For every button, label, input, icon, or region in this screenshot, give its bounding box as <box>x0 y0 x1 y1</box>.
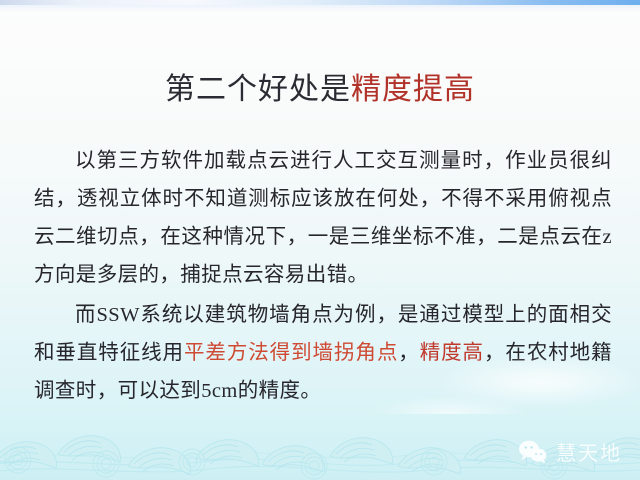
wechat-icon <box>518 439 548 465</box>
slide-canvas: 第二个好处是精度提高 以第三方软件加载点云进行人工交互测量时，作业员很纠结，透视… <box>0 0 640 480</box>
body-text-block: 以第三方软件加载点云进行人工交互测量时，作业员很纠结，透视立体时不知道测标应该放… <box>34 142 612 410</box>
text-run: ， <box>398 342 419 364</box>
watermark-text: 慧天地 <box>556 437 622 466</box>
title-highlight: 精度提高 <box>351 73 475 106</box>
watermark: 慧天地 <box>518 437 622 466</box>
paragraph-1: 以第三方软件加载点云进行人工交互测量时，作业员很纠结，透视立体时不知道测标应该放… <box>34 142 612 294</box>
title-lead: 第二个好处是 <box>165 73 351 106</box>
paragraph-2: 而SSW系统以建筑物墙角点为例，是通过模型上的面相交和垂直特征线用平差方法得到墙… <box>34 296 612 410</box>
text-run-highlight-accuracy: 精度高 <box>420 342 484 364</box>
page-title: 第二个好处是精度提高 <box>0 72 640 108</box>
text-run: 以第三方软件加载点云进行人工交互测量时，作业员很纠结，透视立体时不知道测标应该放… <box>34 150 612 286</box>
top-accent-stripe-fade <box>0 5 640 12</box>
text-run-highlight-method: 平差方法得到墙拐角点 <box>184 342 398 364</box>
